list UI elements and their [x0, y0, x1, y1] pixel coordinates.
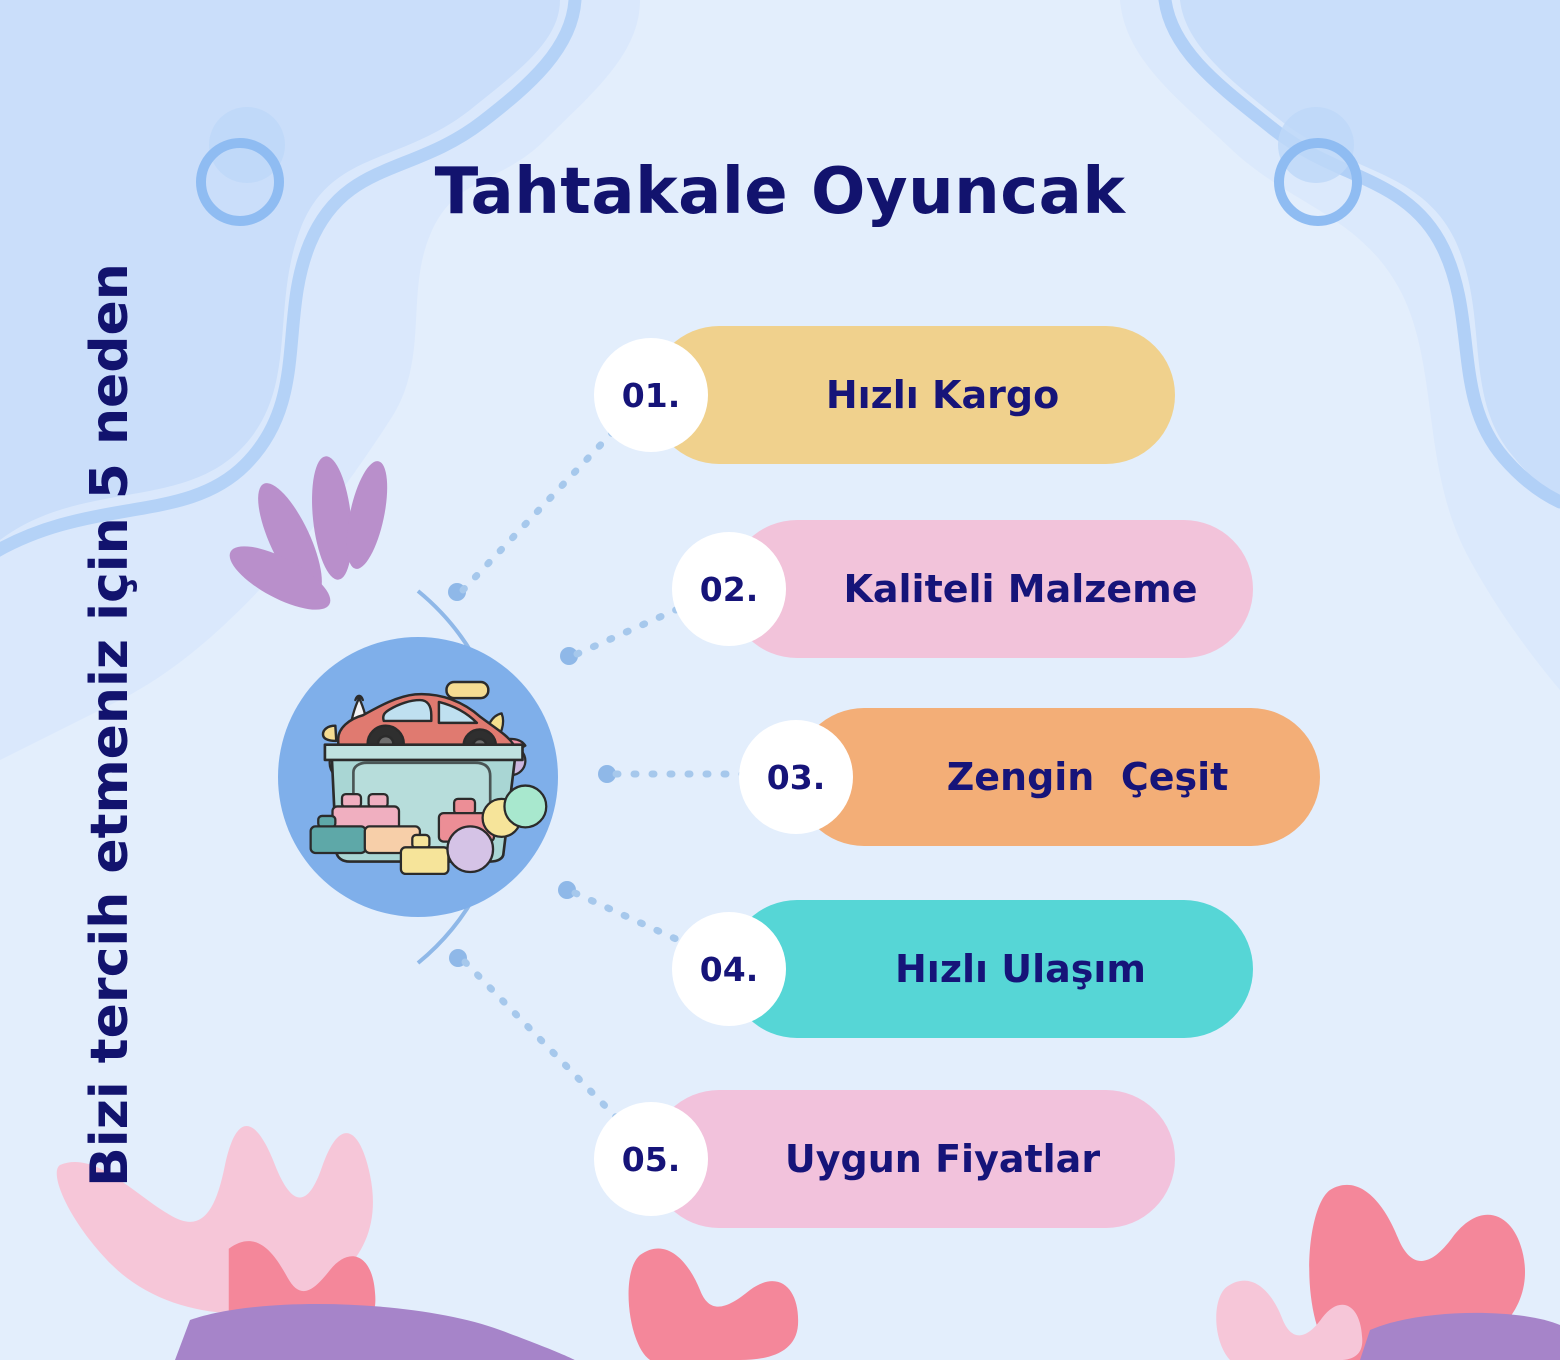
arc-node-3 [598, 765, 616, 783]
rocket-toy [340, 696, 378, 761]
blob-purple-bottom-left [175, 1304, 575, 1360]
reason-item-4[interactable]: Hızlı Ulaşım 04. [728, 900, 1253, 1038]
reason-number-badge-4: 04. [672, 912, 786, 1026]
wave-stroke-top-right [1165, 0, 1560, 502]
toy-bin [325, 745, 523, 862]
illustration-circle-background [278, 637, 558, 917]
arc-node-1 [448, 583, 466, 601]
flower-shape-bottom-left-coral [629, 1248, 799, 1360]
reason-item-1[interactable]: Hızlı Kargo 01. [650, 326, 1175, 464]
reason-item-5[interactable]: Uygun Fiyatlar 05. [650, 1090, 1175, 1228]
car-toy [323, 682, 514, 762]
reason-label-3: Zengin Çeşit [795, 708, 1320, 846]
building-blocks [311, 786, 547, 874]
reason-label-5: Uygun Fiyatlar [650, 1090, 1175, 1228]
flower-shape-bottom-right-light [1216, 1281, 1362, 1360]
reason-number-badge-2: 02. [672, 532, 786, 646]
infographic-canvas: Tahtakale Oyuncak Bizi tercih etmeniz iç… [0, 0, 1560, 1360]
arc-node-2 [560, 647, 578, 665]
petal-2 [307, 454, 358, 581]
reason-number-badge-1: 01. [594, 338, 708, 452]
arc-node-4 [558, 881, 576, 899]
reason-label-4: Hızlı Ulaşım [728, 900, 1253, 1038]
arc-node-5 [449, 949, 467, 967]
balls-inside-bin [330, 741, 526, 784]
petal-sparkle-group [221, 454, 395, 622]
reason-item-3[interactable]: Zengin Çeşit 03. [795, 708, 1320, 846]
reason-number-badge-5: 05. [594, 1102, 708, 1216]
wave-shape-top-right-mid [1180, 0, 1560, 500]
petal-3 [339, 458, 395, 573]
page-title: Tahtakale Oyuncak [0, 155, 1560, 229]
reason-label-2: Kaliteli Malzeme [728, 520, 1253, 658]
blob-purple-bottom-right [1360, 1313, 1560, 1360]
petal-1 [246, 475, 335, 604]
flower-shape-bottom-right-coral [1309, 1185, 1525, 1360]
reason-label-1: Hızlı Kargo [650, 326, 1175, 464]
pinwheel-toy [460, 713, 526, 776]
reason-number-badge-3: 03. [739, 720, 853, 834]
petal-4 [221, 534, 339, 622]
flower-shape-bottom-left-dark [229, 1241, 376, 1330]
side-heading: Bizi tercih etmeniz için 5 neden [80, 225, 140, 1225]
center-arc [418, 591, 506, 963]
reason-item-2[interactable]: Kaliteli Malzeme 02. [728, 520, 1253, 658]
